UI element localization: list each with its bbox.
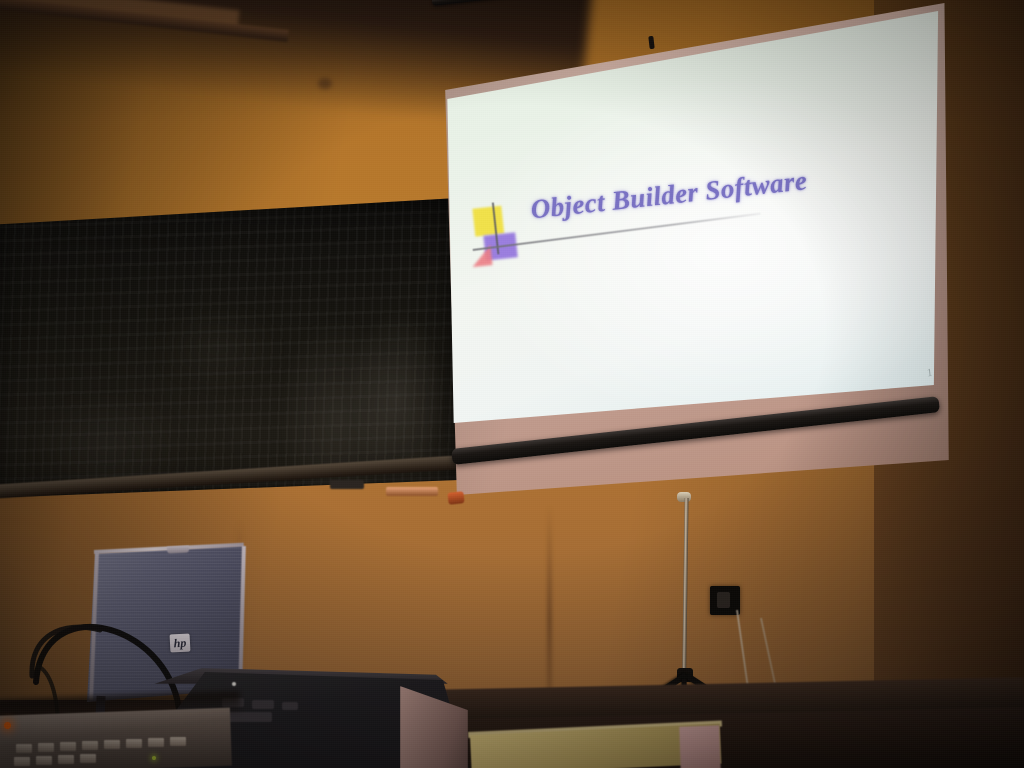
keyboard-key[interactable] (16, 744, 32, 753)
chalkboard-chalk-smudges (0, 198, 458, 498)
keyboard-key[interactable] (82, 741, 98, 750)
chalkboard-eraser[interactable] (330, 480, 364, 489)
keyboard-key[interactable] (126, 739, 142, 748)
device-button-2[interactable] (252, 700, 274, 709)
keyboard-key[interactable] (36, 756, 52, 765)
desktop-keyboard[interactable] (0, 708, 232, 768)
keyboard-key[interactable] (60, 742, 76, 751)
socket-hole (717, 592, 730, 608)
laptop-lid-latch[interactable] (167, 545, 189, 553)
device-indicator-dot (232, 682, 236, 686)
keyboard-key[interactable] (80, 754, 96, 763)
keyboard-key[interactable] (104, 740, 120, 749)
keyboard-key[interactable] (170, 737, 186, 746)
keyboard-led-indicator (152, 756, 156, 760)
keyboard-key[interactable] (38, 743, 54, 752)
keyboard-key[interactable] (148, 738, 164, 747)
yellow-square-icon (472, 206, 504, 237)
hp-logo-text: hp (173, 637, 186, 650)
projection-screen-assembly: Object Builder Software 1 OBS (424, 0, 954, 520)
screen-pull-hook-icon[interactable] (648, 36, 654, 49)
slide-title: Object Builder Software (529, 165, 808, 225)
keyboard-key[interactable] (14, 757, 30, 766)
lecture-hall-scene: Object Builder Software 1 OBS (0, 0, 1024, 768)
device-button-4[interactable] (282, 702, 298, 710)
power-led-indicator (4, 722, 11, 729)
keyboard-key[interactable] (58, 755, 74, 764)
screen-top-roller-bar[interactable] (432, 0, 902, 6)
desk-side-panel (679, 725, 721, 768)
slide-page-number: 1 (926, 367, 933, 380)
screen-bar-end-cap (447, 491, 464, 505)
hp-logo-icon: hp (170, 633, 191, 652)
